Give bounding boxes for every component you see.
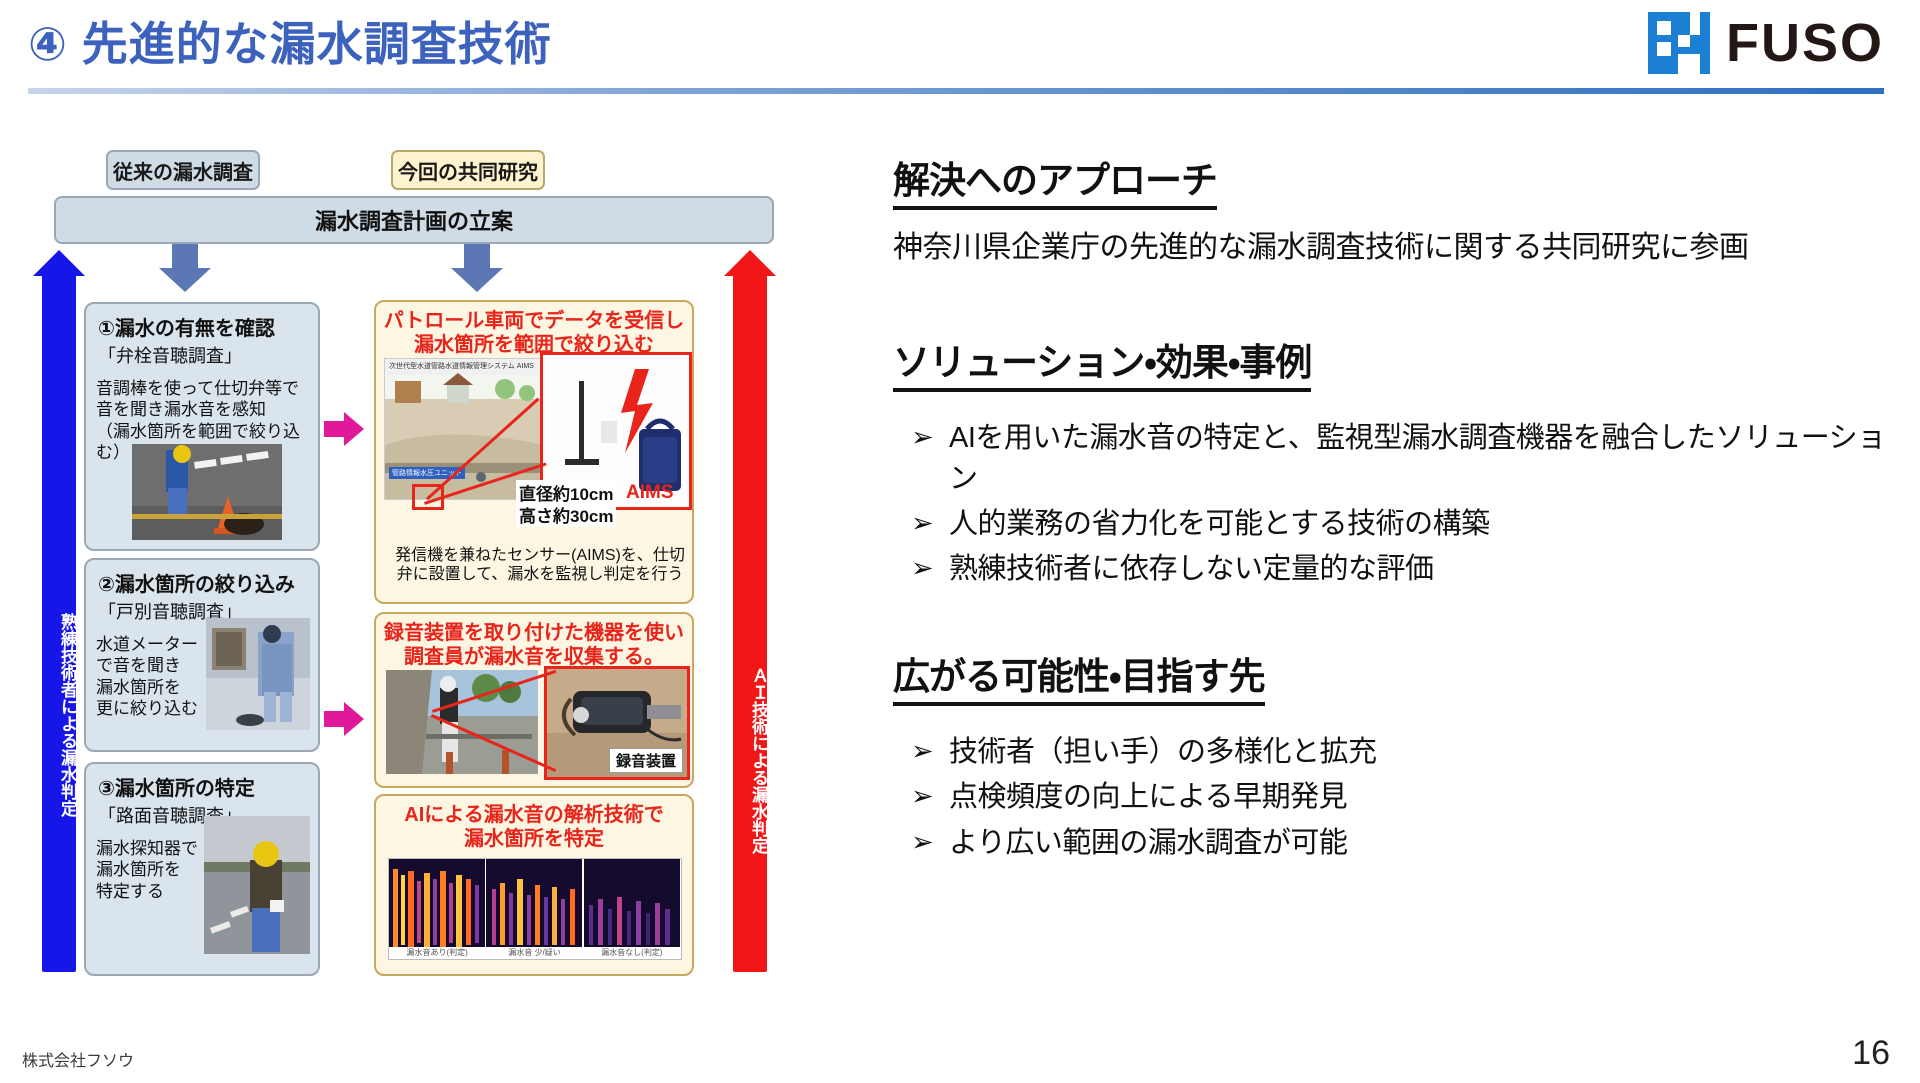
research-card-ai-analysis: AIによる漏水音の解析技術で 漏水箇所を特定	[374, 794, 694, 976]
solution-bullet-list: ➢ AIを用いた漏水音の特定と、監視型漏水調査機器を融合したソリューション ➢ …	[893, 418, 1903, 591]
footer-company: 株式会社フソウ	[22, 1047, 134, 1071]
research-a-foot: 発信機を兼ねたセンサー(AIMS)を、仕切 弁に設置して、漏水を監視し判定を行う	[382, 546, 694, 584]
list-item-label: 熟練技術者に依存しない定量的な評価	[949, 549, 1903, 590]
header-divider	[28, 88, 1884, 94]
blue-skilled-engineer-arrow: 熟練技術者による漏水判定	[42, 250, 76, 972]
page-number: 16	[1852, 1034, 1890, 1073]
down-arrow-right	[451, 244, 503, 292]
list-item-label: より広い範囲の漏水調査が可能	[949, 823, 1903, 864]
research-a-head: パトロール車両でデータを受信し 漏水箇所を範囲で絞り込む	[382, 309, 686, 357]
spacer-1	[893, 270, 1903, 332]
red-ai-judgement-arrow: ＡＩ技術による漏水判定	[733, 250, 767, 972]
down-arrow-left	[159, 244, 211, 292]
diagram-tab-joint-research: 今回の共同研究	[391, 150, 545, 190]
red-arrow-label: ＡＩ技術による漏水判定	[733, 610, 767, 910]
arrow-bullet-icon: ➢	[911, 418, 933, 456]
list-item: ➢ AIを用いた漏水音の特定と、監視型漏水調査機器を融合したソリューション	[893, 418, 1903, 500]
step-2-title: ②漏水箇所の絞り込み	[98, 568, 318, 597]
arrow-bullet-icon: ➢	[911, 732, 933, 770]
section-solution: ソリューション・効果・事例 ➢ AIを用いた漏水音の特定と、監視型漏水調査機器を…	[893, 332, 1903, 591]
fuso-logo-mark	[1648, 12, 1710, 74]
pink-arrow-1	[324, 412, 364, 446]
aims-device-label: AIMS	[626, 482, 674, 504]
diagram-plan-bar: 漏水調査計画の立案	[54, 196, 774, 244]
step-card-2: ②漏水箇所の絞り込み 「戸別音聴調査」 水道メーター で音を聞き 漏水箇所を 更…	[84, 558, 320, 752]
research-card-recorder: 録音装置を取り付けた機器を使い 調査員が漏水音を収集する。	[374, 612, 694, 788]
research-c-head: AIによる漏水音の解析技術で 漏水箇所を特定	[382, 803, 686, 851]
pink-arrow-2	[324, 702, 364, 736]
spectrogram-ai-analysis: 漏水音あり(判定)	[388, 858, 682, 960]
spectrogram-caption-3: 漏水音なし(判定)	[584, 947, 680, 958]
section-potential-heading: 広がる可能性・目指す先	[893, 646, 1265, 706]
step-card-3: ③漏水箇所の特定 「路面音聴調査」 漏水探知器で 漏水箇所を 特定する	[84, 762, 320, 976]
recorder-zoom-caption: 録音装置	[609, 748, 683, 773]
dim-height-label: 高さ約30cm	[516, 502, 616, 527]
section-approach: 解決へのアプローチ 神奈川県企業庁の先進的な漏水調査技術に関する共同研究に参画	[893, 150, 1903, 270]
brand-wordmark: FUSO	[1726, 16, 1884, 70]
section-potential: 広がる可能性・目指す先 ➢ 技術者（担い手）の多様化と拡充 ➢ 点検頻度の向上に…	[893, 646, 1903, 864]
magnify-source-box-a	[412, 484, 444, 510]
arrow-bullet-icon: ➢	[911, 823, 933, 861]
spectrogram-panel-2: 漏水音 少/疑い	[486, 859, 583, 959]
research-card-aims: パトロール車両でデータを受信し 漏水箇所を範囲で絞り込む 次世代型水道管路水道情…	[374, 300, 694, 604]
step-2-desc: 水道メーター で音を聞き 漏水箇所を 更に絞り込む	[96, 634, 208, 719]
aims-illustration-caption: 次世代型水道管路水道情報管理システム AIMS	[389, 361, 534, 371]
photo-recorder-zoom: 録音装置	[544, 666, 690, 780]
list-item-label: AIを用いた漏水音の特定と、監視型漏水調査機器を融合したソリューション	[949, 418, 1903, 500]
spectrogram-caption-1: 漏水音あり(判定)	[389, 947, 485, 958]
slide-header: ④ 先進的な漏水調査技術 FUSO	[0, 0, 1920, 92]
list-item-label: 技術者（担い手）の多様化と拡充	[949, 732, 1903, 773]
potential-bullet-list: ➢ 技術者（担い手）の多様化と拡充 ➢ 点検頻度の向上による早期発見 ➢ より広…	[893, 732, 1903, 864]
aims-system-illustration: 次世代型水道管路水道情報管理システム AIMS 管路情報水圧ユニット	[384, 358, 556, 500]
content-column: 解決へのアプローチ 神奈川県企業庁の先進的な漏水調査技術に関する共同研究に参画 …	[893, 150, 1903, 868]
photo-household-meter-survey	[206, 618, 310, 730]
spectrogram-panel-1: 漏水音あり(判定)	[389, 859, 486, 959]
step-3-desc: 漏水探知器で 漏水箇所を 特定する	[96, 838, 200, 902]
arrow-bullet-icon: ➢	[911, 504, 933, 542]
step-1-title: ①漏水の有無を確認	[98, 312, 318, 341]
list-item-label: 点検頻度の向上による早期発見	[949, 777, 1903, 818]
arrow-bullet-icon: ➢	[911, 549, 933, 587]
brand-logo: FUSO	[1648, 12, 1884, 74]
step-card-1: ①漏水の有無を確認 「弁栓音聴調査」 音調棒を使って仕切弁等で 音を聞き漏水音を…	[84, 302, 320, 551]
section-approach-heading: 解決へのアプローチ	[893, 150, 1217, 210]
list-item: ➢ 熟練技術者に依存しない定量的な評価	[893, 549, 1903, 590]
leak-survey-flow-diagram: 従来の漏水調査 今回の共同研究 漏水調査計画の立案 熟練技術者による漏水判定 Ａ…	[36, 150, 826, 1010]
spectrogram-panel-3: 漏水音なし(判定)	[584, 859, 681, 959]
section-solution-heading: ソリューション・効果・事例	[893, 332, 1311, 392]
diagram-tab-conventional: 従来の漏水調査	[106, 150, 260, 190]
blue-arrow-label: 熟練技術者による漏水判定	[42, 550, 76, 880]
list-item: ➢ 点検頻度の向上による早期発見	[893, 777, 1903, 818]
list-item: ➢ より広い範囲の漏水調査が可能	[893, 823, 1903, 864]
arrow-bullet-icon: ➢	[911, 777, 933, 815]
spectrogram-caption-2: 漏水音 少/疑い	[486, 947, 582, 958]
section-approach-body: 神奈川県企業庁の先進的な漏水調査技術に関する共同研究に参画	[893, 226, 1903, 270]
research-b-head: 録音装置を取り付けた機器を使い 調査員が漏水音を収集する。	[382, 621, 686, 669]
list-item-label: 人的業務の省力化を可能とする技術の構築	[949, 504, 1903, 545]
spacer-2	[893, 594, 1903, 646]
step-3-title: ③漏水箇所の特定	[98, 772, 318, 801]
list-item: ➢ 技術者（担い手）の多様化と拡充	[893, 732, 1903, 773]
photo-road-surface-survey	[204, 816, 310, 954]
list-item: ➢ 人的業務の省力化を可能とする技術の構築	[893, 504, 1903, 545]
page-title: ④ 先進的な漏水調査技術	[28, 8, 552, 74]
photo-valve-sounding-survey	[132, 444, 282, 540]
step-1-subtitle: 「弁栓音聴調査」	[98, 342, 318, 368]
